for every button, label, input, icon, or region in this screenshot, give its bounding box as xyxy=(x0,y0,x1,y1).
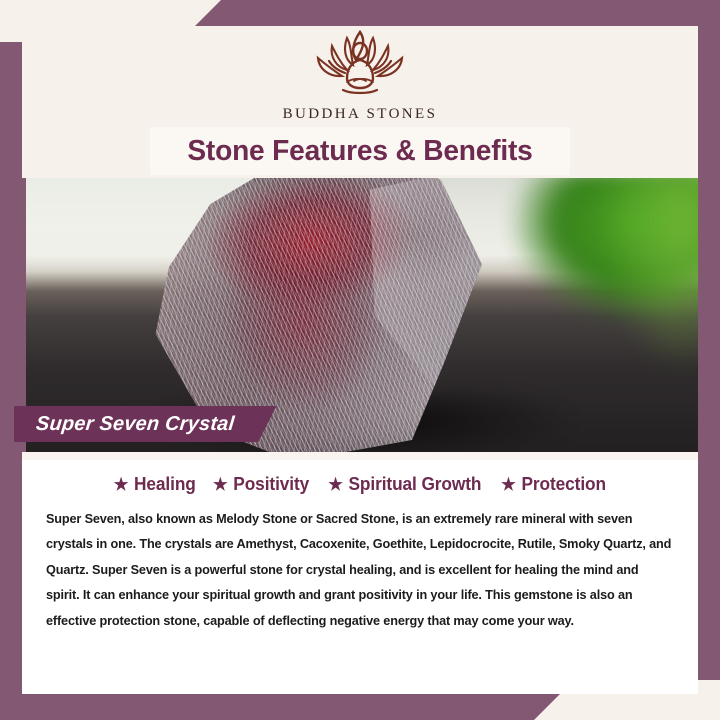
star-icon: ★ xyxy=(213,476,228,493)
brand-name: BUDDHA STONES xyxy=(283,106,438,123)
benefit-item-healing: ★ Healing xyxy=(114,474,196,495)
frame-top-bar xyxy=(195,0,720,26)
benefit-item-spiritual-growth: ★ Spiritual Growth xyxy=(329,474,482,495)
lotus-meditation-icon xyxy=(285,24,435,102)
frame-top-hairline xyxy=(221,26,698,30)
benefits-row: ★ Healing ★ Positivity ★ Spiritual Growt… xyxy=(22,460,698,501)
benefit-item-protection: ★ Protection xyxy=(501,474,606,495)
brand-logo: BUDDHA STONES xyxy=(0,24,720,123)
frame-right-bar xyxy=(698,0,720,680)
benefit-label: Spiritual Growth xyxy=(349,474,482,495)
star-icon: ★ xyxy=(114,476,129,493)
benefit-label: Protection xyxy=(521,474,605,495)
page-title-band: Stone Features & Benefits xyxy=(150,127,570,175)
frame-bottom-bar xyxy=(0,694,560,720)
frame-left-bar xyxy=(0,42,22,720)
benefit-item-positivity: ★ Positivity xyxy=(213,474,309,495)
photo-caption-label: Super Seven Crystal xyxy=(35,413,236,436)
description-paragraph: Super Seven, also known as Melody Stone … xyxy=(46,507,672,634)
benefit-label: Healing xyxy=(134,474,196,495)
star-icon: ★ xyxy=(501,476,516,493)
content-panel: ★ Healing ★ Positivity ★ Spiritual Growt… xyxy=(22,460,698,694)
photo-caption-chip: Super Seven Crystal xyxy=(14,406,276,442)
poster-root: BUDDHA STONES Stone Features & Benefits … xyxy=(0,0,720,720)
benefit-label: Positivity xyxy=(234,474,310,495)
star-icon: ★ xyxy=(329,476,344,493)
panel-top-strip xyxy=(22,452,698,460)
page-title: Stone Features & Benefits xyxy=(187,137,532,166)
